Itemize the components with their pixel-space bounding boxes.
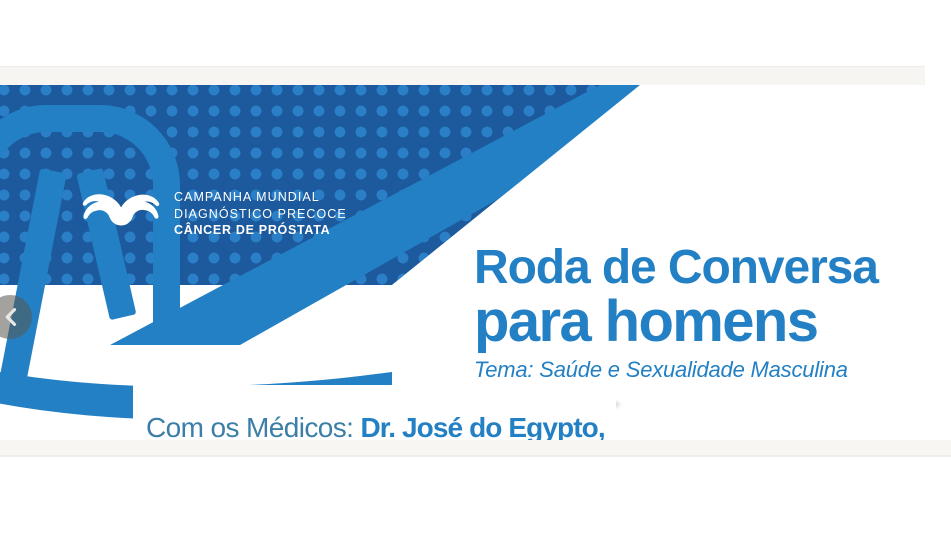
awareness-ribbon-icon [0, 113, 198, 413]
headline-line-2: para homens [474, 293, 878, 351]
carousel-banner[interactable]: CAMPANHA MUNDIAL DIAGNÓSTICO PRECOCE CÂN… [0, 85, 925, 440]
campaign-line-3: CÂNCER DE PRÓSTATA [174, 222, 347, 239]
doctors-names-1: Dr. José do Egypto, [360, 412, 604, 440]
campaign-line-2: DIAGNÓSTICO PRECOCE [174, 206, 347, 223]
headline-line-1: Roda de Conversa [474, 245, 878, 291]
doctors-line-1: Com os Médicos: Dr. José do Egypto, [146, 412, 605, 440]
moustache-icon [82, 194, 160, 234]
doctors-prefix: Com os Médicos: [146, 412, 360, 440]
headline-block: Roda de Conversa para homens Tema: Saúde… [474, 245, 878, 383]
bottom-gutter [0, 440, 951, 457]
top-spacer-band [0, 66, 925, 85]
doctors-panel: Com os Médicos: Dr. José do Egypto, Dr. … [133, 385, 616, 440]
campaign-line-1: CAMPANHA MUNDIAL [174, 189, 347, 206]
headline-subtitle: Tema: Saúde e Sexualidade Masculina [474, 357, 878, 383]
campaign-lockup: CAMPANHA MUNDIAL DIAGNÓSTICO PRECOCE CÂN… [82, 189, 347, 239]
chevron-left-icon [4, 308, 17, 326]
page-root: CAMPANHA MUNDIAL DIAGNÓSTICO PRECOCE CÂN… [0, 0, 951, 535]
